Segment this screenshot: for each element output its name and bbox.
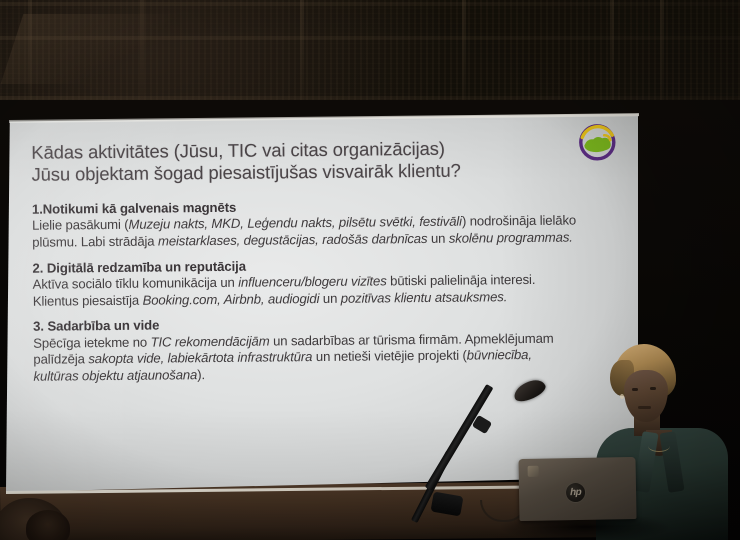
block-body: Lielie pasākumi (Muzeju nakts, MKD, Leģe… bbox=[32, 213, 577, 251]
room-background: Kādas aktivitātes (Jūsu, TIC vai citas o… bbox=[0, 0, 740, 540]
hp-laptop: hp bbox=[518, 457, 636, 521]
ceiling-mullion bbox=[660, 0, 664, 104]
presenter-face bbox=[624, 370, 668, 422]
slide-title: Kādas aktivitātes (Jūsu, TIC vai citas o… bbox=[31, 136, 612, 185]
block-body: Aktīva sociālo tīklu komunikācija un inf… bbox=[33, 272, 578, 310]
slide-block: 3. Sadarbība un vide Spēcīga ietekme no … bbox=[33, 313, 615, 385]
slide-block: 1.Notikumi kā galvenais magnēts Lielie p… bbox=[32, 196, 613, 251]
presenter-eye-left bbox=[632, 388, 638, 391]
ceiling-mullion bbox=[140, 0, 144, 104]
presenter-earring bbox=[620, 394, 624, 399]
presenter-necklace bbox=[648, 440, 670, 452]
slide-body: 1.Notikumi kā galvenais magnēts Lielie p… bbox=[32, 196, 615, 385]
ceiling-mullion bbox=[462, 0, 466, 104]
projection-screen: Kādas aktivitātes (Jūsu, TIC vai citas o… bbox=[6, 114, 638, 492]
ceiling-rail bbox=[0, 36, 740, 40]
ceiling-grid bbox=[0, 0, 740, 104]
audience-member-silhouette-shadow bbox=[26, 510, 70, 540]
presentation-slide: Kādas aktivitātes (Jūsu, TIC vai citas o… bbox=[6, 108, 642, 492]
presenter-eye-right bbox=[650, 387, 656, 390]
ceiling-rail bbox=[0, 2, 740, 6]
ceiling-mullion bbox=[28, 0, 32, 104]
slide-block: 2. Digitālā redzamība un reputācija Aktī… bbox=[32, 255, 613, 310]
ceiling-mullion bbox=[610, 0, 614, 104]
hp-logo-icon: hp bbox=[565, 482, 586, 503]
presenter-mouth bbox=[638, 406, 651, 409]
block-body: Spēcīga ietekme no TIC rekomendācijām un… bbox=[33, 330, 578, 385]
ceiling-mullion bbox=[300, 0, 304, 104]
laptop-sticker bbox=[528, 466, 539, 477]
organization-logo-icon bbox=[574, 122, 620, 162]
